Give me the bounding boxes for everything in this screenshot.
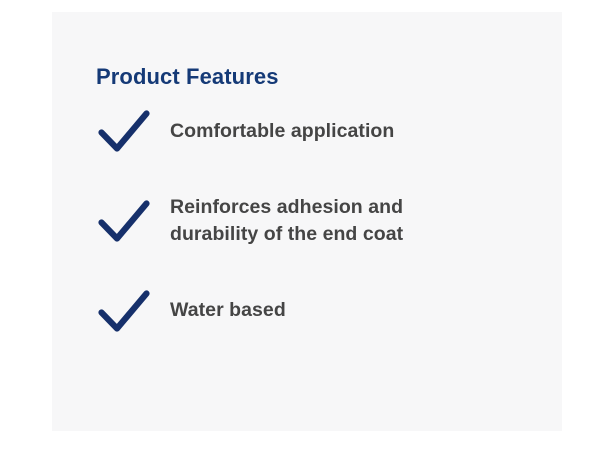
check-icon (96, 196, 170, 246)
page-canvas: Product Features Comfortable application… (0, 0, 600, 457)
product-features-list: Comfortable application Reinforces adhes… (96, 106, 526, 336)
product-features-card: Product Features Comfortable application… (52, 12, 562, 431)
list-item: Water based (96, 286, 526, 336)
check-icon (96, 106, 170, 156)
list-item: Reinforces adhesion and durability of th… (96, 194, 526, 248)
list-item-label: Water based (170, 297, 490, 324)
check-icon (96, 286, 170, 336)
page-title: Product Features (96, 64, 279, 90)
list-item-label: Comfortable application (170, 118, 490, 145)
list-item: Comfortable application (96, 106, 526, 156)
list-item-label: Reinforces adhesion and durability of th… (170, 194, 470, 248)
